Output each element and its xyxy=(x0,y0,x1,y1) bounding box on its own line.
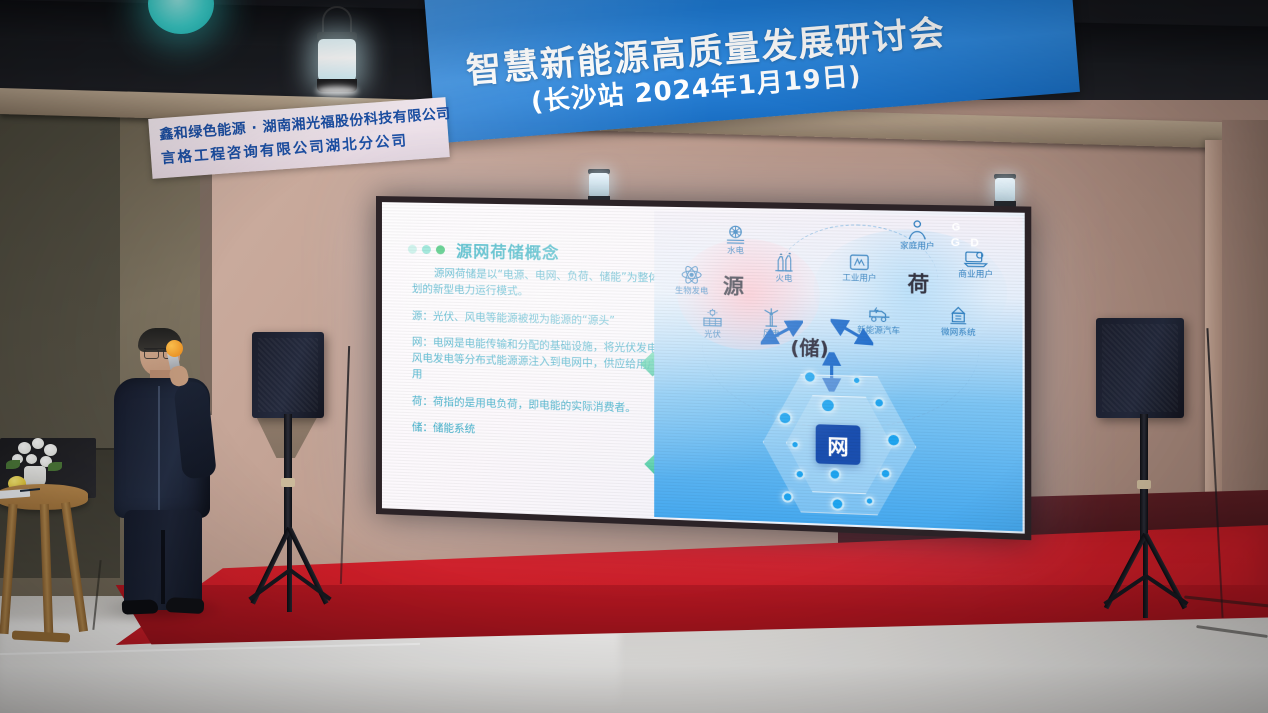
arrow-source-storage-icon xyxy=(761,320,803,352)
table-leg xyxy=(40,504,54,634)
slide-title: 源网荷储概念 xyxy=(456,238,559,264)
photo-scene: 智慧新能源高质量发展研讨会 (长沙站 2024年1月19日) 鑫和绿色能源 · … xyxy=(0,0,1268,713)
banner-title-line2: (长沙站 2024年1月19日) xyxy=(529,55,862,118)
flower xyxy=(32,438,44,449)
table-foot-rail xyxy=(12,630,70,642)
side-table xyxy=(0,484,94,660)
diagram-grid-center: 网 xyxy=(816,424,861,465)
bullet-dot-3-icon xyxy=(436,245,445,254)
diagram-node-hydro-label: 水电 xyxy=(727,246,744,256)
biomass-icon xyxy=(680,264,703,285)
led-screen: G G D 源网荷储概念 源网荷储是以“电源、电网、负荷、储能”为整体规划的新型… xyxy=(382,202,1025,534)
flower xyxy=(44,444,57,456)
presenter-shoe-left xyxy=(122,599,158,614)
diagram-load-center: 荷 xyxy=(908,267,930,298)
diagram-node-thermal-label: 火电 xyxy=(775,274,792,284)
diagram-node-thermal: 火电 xyxy=(761,252,807,284)
bullet-dot-2-icon xyxy=(422,244,431,253)
led-screen-frame: G G D 源网荷储概念 源网荷储是以“电源、电网、负荷、储能”为整体规划的新型… xyxy=(376,196,1031,540)
grid-node xyxy=(790,440,800,450)
diagram-node-biomass-label: 生物发电 xyxy=(675,286,708,296)
lantern-glass xyxy=(995,178,1015,202)
grid-node xyxy=(873,397,885,409)
grid-node xyxy=(828,468,841,481)
lantern-glass xyxy=(589,173,609,197)
leaf xyxy=(6,460,20,469)
diagram-node-household: 家庭用户 xyxy=(888,219,946,251)
grid-node xyxy=(820,397,836,413)
grid-network-hexagon: 网 xyxy=(754,367,924,524)
diagram-node-hydro: 水电 xyxy=(712,224,758,256)
commercial-icon xyxy=(964,247,988,268)
lantern-glow xyxy=(316,86,358,96)
slide-paragraph-1: 源网荷储是以“电源、电网、负荷、储能”为整体规划的新型电力运行模式。 xyxy=(412,265,675,304)
diagram-node-industrial: 工业用户 xyxy=(831,251,889,283)
bullet-dot-1-icon xyxy=(408,244,417,253)
flower xyxy=(26,454,37,464)
microgrid-icon xyxy=(946,305,970,326)
diagram-node-solar: 光伏 xyxy=(692,308,734,340)
energy-diagram-panel: 源 水电 生物发电 火电 xyxy=(654,211,1022,532)
speaker-stand-collar xyxy=(1137,480,1151,489)
slide-text-body: 源网荷储是以“电源、电网、负荷、储能”为整体规划的新型电力运行模式。 源：光伏、… xyxy=(412,265,675,455)
household-icon xyxy=(905,219,929,240)
jacket-zipper xyxy=(158,386,160,512)
lantern-glass xyxy=(318,39,356,81)
speaker-cabinet xyxy=(1096,318,1184,418)
diagram-node-microgrid-label: 微网系统 xyxy=(941,327,976,337)
diagram-node-industrial-label: 工业用户 xyxy=(842,273,876,283)
trouser-gap xyxy=(161,530,165,604)
diagram-node-household-label: 家庭用户 xyxy=(900,241,934,251)
presenter xyxy=(104,330,224,620)
diagram-source-center: 源 xyxy=(723,269,744,299)
speaker-stand-pole xyxy=(1140,414,1148,542)
industrial-icon xyxy=(848,251,871,272)
lantern-handle xyxy=(322,6,352,34)
thermal-icon xyxy=(772,252,795,273)
pendant-lantern-light-icon xyxy=(313,18,361,96)
cube-letter-1: G xyxy=(952,222,960,234)
speaker-stand-collar xyxy=(281,478,295,487)
cube-letter-3: D xyxy=(970,237,979,250)
grid-node xyxy=(865,496,875,506)
presenter-shoe-right xyxy=(166,597,205,614)
hydro-icon xyxy=(724,224,747,245)
diagram-node-biomass: 生物发电 xyxy=(665,264,719,296)
slide-paragraph-3: 网：电网是电能传输和分配的基础设施，将光伏发电和风电发电等分布式能源源注入到电网… xyxy=(412,334,675,391)
grid-node xyxy=(886,433,901,448)
slide-paragraph-5: 储：储能系统 xyxy=(412,419,675,444)
cube-letter-2: G xyxy=(951,237,960,250)
speaker-cabinet xyxy=(252,332,324,418)
grid-node xyxy=(795,469,806,480)
diagram-node-commercial-label: 商业用户 xyxy=(958,269,993,279)
speaker-stand-pole xyxy=(284,414,292,538)
grid-node xyxy=(880,468,892,480)
diagram-node-microgrid: 微网系统 xyxy=(925,305,992,338)
grid-node xyxy=(803,370,817,384)
banner-title-line1: 智慧新能源高质量发展研讨会 xyxy=(464,4,948,93)
solar-icon xyxy=(701,308,724,329)
slide-paragraph-2: 源：光伏、风电等能源被视为能源的“源头” xyxy=(412,307,675,330)
table-leg xyxy=(61,502,88,632)
slide-heading: 源网荷储概念 xyxy=(408,237,560,264)
table-leg xyxy=(0,504,18,634)
leaf xyxy=(48,462,62,471)
grid-node xyxy=(852,376,862,386)
slide-paragraph-4: 荷：荷指的是用电负荷，即电能的实际消费者。 xyxy=(412,393,675,418)
diagram-node-commercial: 商业用户 xyxy=(944,247,1007,280)
grid-node xyxy=(831,497,845,511)
flower xyxy=(18,442,31,454)
arrow-storage-load-icon xyxy=(831,317,874,349)
grid-node xyxy=(782,491,794,503)
grid-node xyxy=(778,411,793,426)
diagram-node-solar-label: 光伏 xyxy=(704,329,721,339)
